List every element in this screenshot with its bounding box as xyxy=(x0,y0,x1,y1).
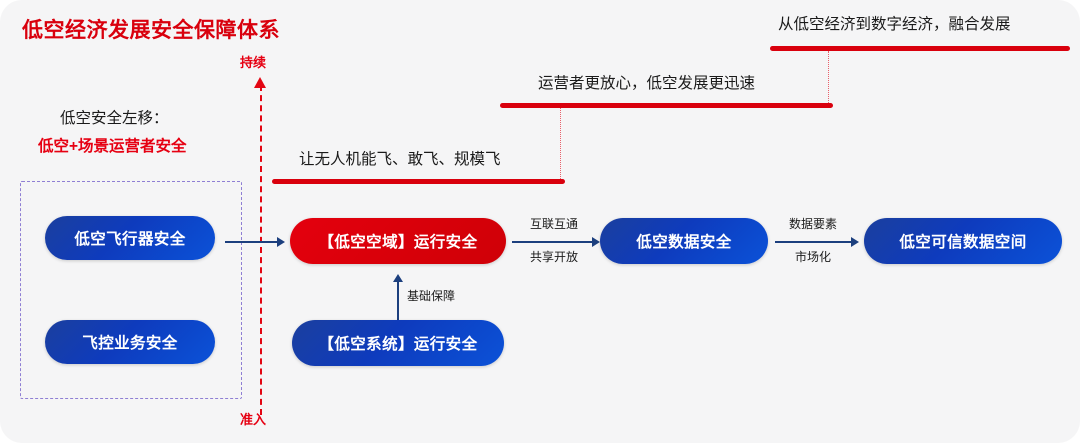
node-flight-control-safety[interactable]: 飞控业务安全 xyxy=(45,320,215,364)
node-aircraft-safety[interactable]: 低空飞行器安全 xyxy=(45,216,215,260)
node-flight-control-safety-label: 飞控业务安全 xyxy=(82,331,177,353)
axis-top-label: 持续 xyxy=(240,52,266,71)
edge-group-to-airspace-arrow xyxy=(277,237,285,247)
edge-label-foundation: 基础保障 xyxy=(407,288,455,305)
edge-group-to-airspace xyxy=(225,241,279,243)
node-trusted-data-space[interactable]: 低空可信数据空间 xyxy=(864,218,1062,264)
node-system-operation-safety[interactable]: 【低空系统】运行安全 xyxy=(292,320,504,366)
node-trusted-data-space-label: 低空可信数据空间 xyxy=(899,230,1026,252)
node-low-altitude-data-security[interactable]: 低空数据安全 xyxy=(600,218,768,264)
page-title: 低空经济发展安全保障体系 xyxy=(22,14,280,44)
left-group-box xyxy=(20,181,242,399)
headline-connector-3 xyxy=(828,51,829,105)
vertical-dashed-axis xyxy=(260,85,262,415)
node-airspace-operation-safety[interactable]: 【低空空域】运行安全 xyxy=(290,218,506,264)
edge-data-to-space-arrow xyxy=(851,237,859,247)
diagram-canvas: 低空经济发展安全保障体系 从低空经济到数字经济，融合发展 运营者更放心，低空发展… xyxy=(0,0,1080,443)
edge-airspace-to-data xyxy=(512,241,594,243)
left-group-caption-1: 低空安全左移： xyxy=(60,106,169,128)
edge-label-interconnect-line2: 共享开放 xyxy=(512,249,596,266)
headline-connector-2 xyxy=(560,108,561,181)
headline-underline-3 xyxy=(770,46,1070,51)
node-aircraft-safety-label: 低空飞行器安全 xyxy=(74,227,185,249)
headline-drone-flight: 让无人机能飞、敢飞、规模飞 xyxy=(299,147,501,169)
headline-underline-1 xyxy=(272,179,565,184)
edge-airspace-to-data-arrow xyxy=(592,237,600,247)
node-airspace-operation-safety-label: 【低空空域】运行安全 xyxy=(318,230,477,252)
edge-system-to-airspace xyxy=(397,282,399,322)
edge-system-to-airspace-arrow xyxy=(393,274,403,282)
headline-underline-2 xyxy=(500,103,833,108)
edge-label-data-element-line1: 数据要素 xyxy=(773,216,853,233)
axis-bottom-label: 准入 xyxy=(240,409,266,428)
edge-data-to-space xyxy=(775,241,853,243)
node-low-altitude-data-security-label: 低空数据安全 xyxy=(636,230,731,252)
edge-label-data-element-line2: 市场化 xyxy=(773,249,853,266)
left-group-caption-2: 低空+场景运营者安全 xyxy=(38,134,187,156)
edge-label-interconnect-line1: 互联互通 xyxy=(512,216,596,233)
node-system-operation-safety-label: 【低空系统】运行安全 xyxy=(318,332,477,354)
headline-operator-confidence: 运营者更放心，低空发展更迅速 xyxy=(538,71,755,93)
headline-digital-economy: 从低空经济到数字经济，融合发展 xyxy=(778,12,1011,34)
